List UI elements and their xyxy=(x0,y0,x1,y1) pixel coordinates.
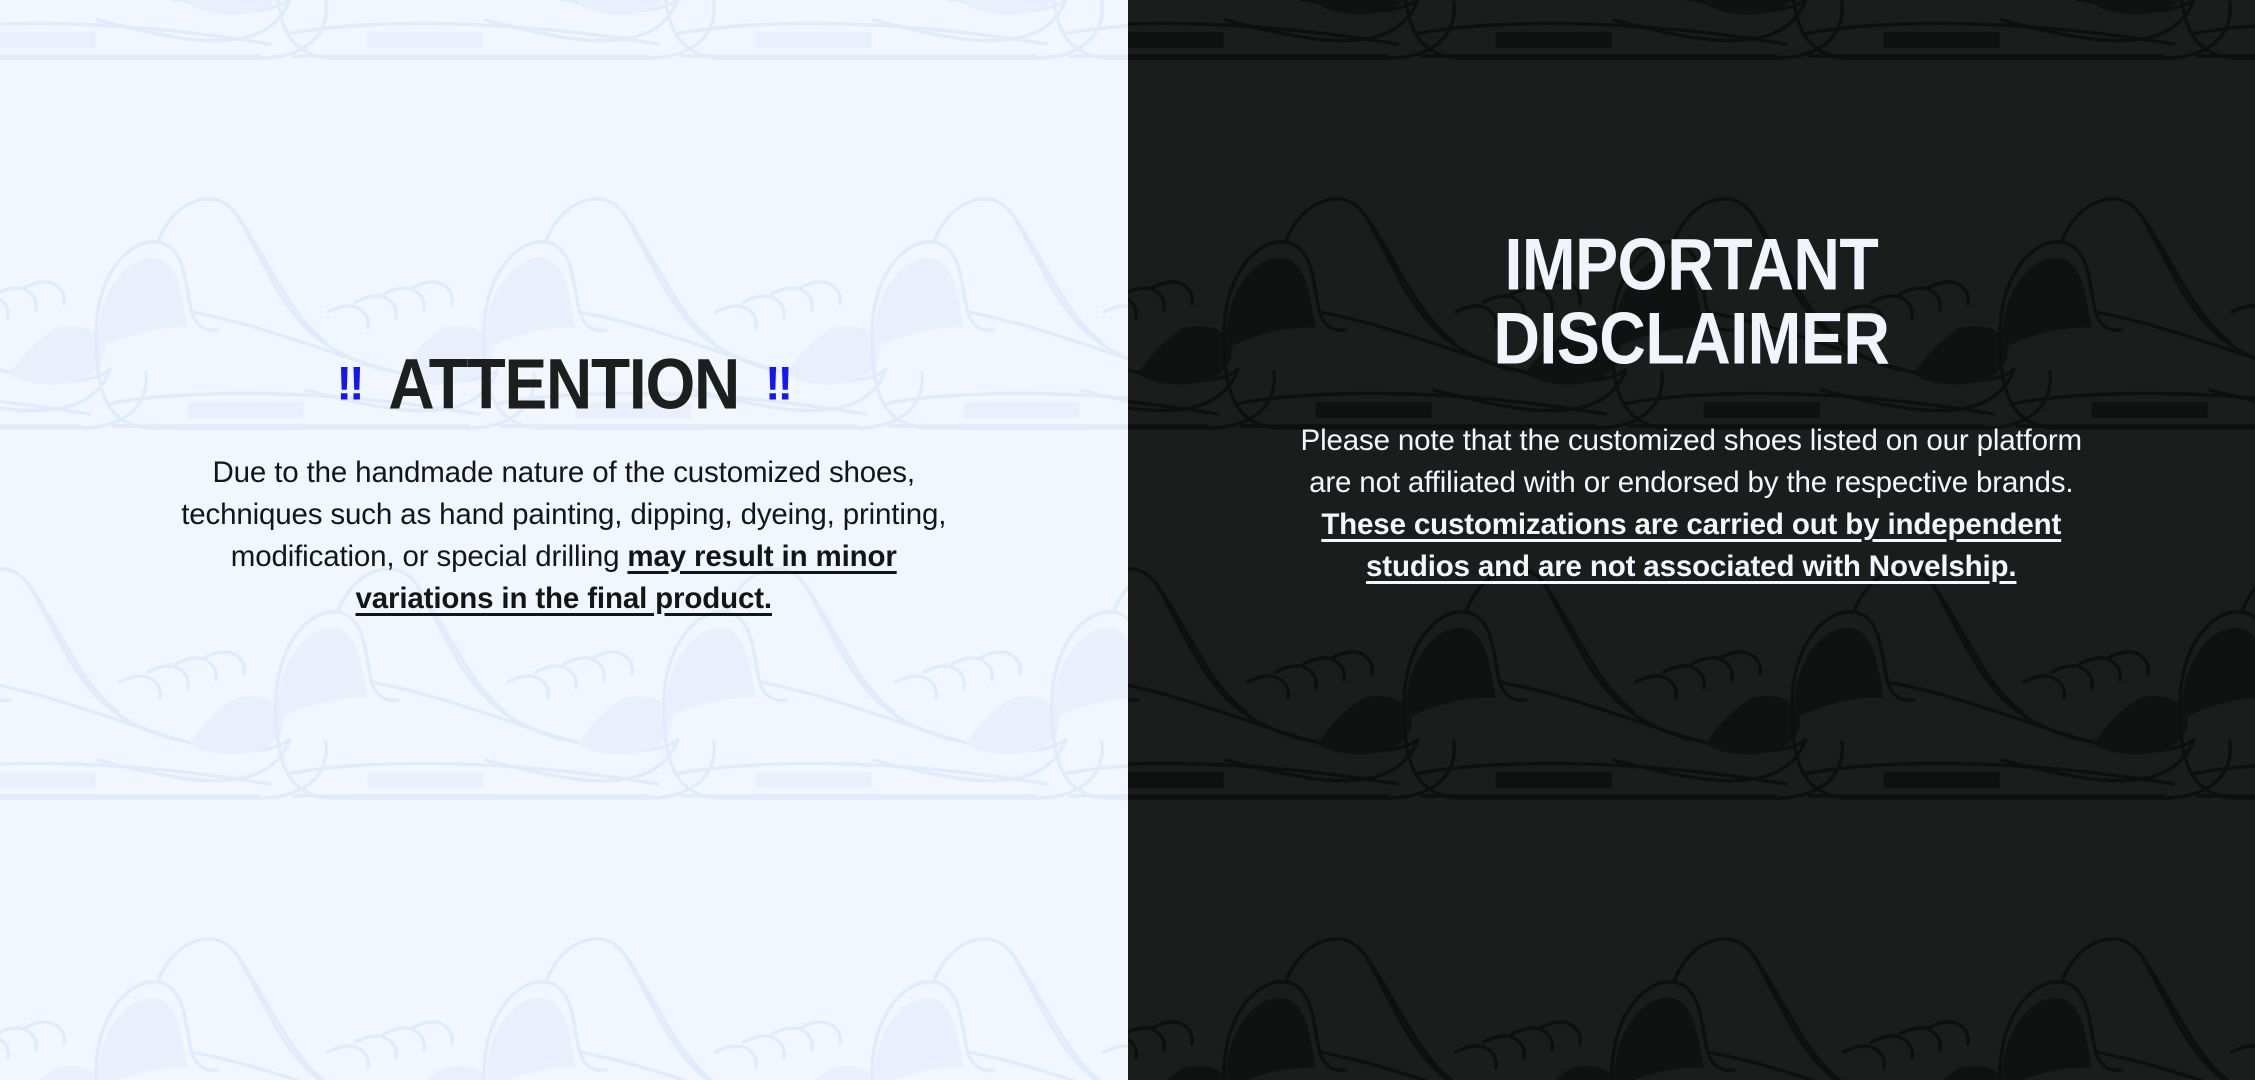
disclaimer-panel: IMPORTANT DISCLAIMER Please note that th… xyxy=(1128,0,2255,1080)
disclaimer-body-emphasis: These customizations are carried out by … xyxy=(1321,508,2061,583)
attention-body: Due to the handmade nature of the custom… xyxy=(169,452,959,620)
attention-panel: ‼ ATTENTION ‼ Due to the handmade nature… xyxy=(0,0,1128,1080)
disclaimer-content: IMPORTANT DISCLAIMER Please note that th… xyxy=(1128,0,2255,588)
disclaimer-body: Please note that the customized shoes li… xyxy=(1286,420,2096,588)
double-exclamation-icon-right: ‼ xyxy=(765,359,791,406)
double-exclamation-icon-left: ‼ xyxy=(337,359,363,406)
attention-heading-text: ATTENTION xyxy=(388,348,739,420)
disclaimer-heading-line-2: DISCLAIMER xyxy=(1493,303,1889,378)
disclaimer-body-lead: Please note that the customized shoes li… xyxy=(1301,424,2082,499)
disclaimer-heading: IMPORTANT DISCLAIMER xyxy=(1493,228,1889,377)
disclaimer-heading-line-1: IMPORTANT xyxy=(1493,228,1889,303)
attention-heading: ‼ ATTENTION ‼ xyxy=(337,348,791,420)
attention-content: ‼ ATTENTION ‼ Due to the handmade nature… xyxy=(0,0,1128,620)
disclaimer-banner: ‼ ATTENTION ‼ Due to the handmade nature… xyxy=(0,0,2255,1080)
